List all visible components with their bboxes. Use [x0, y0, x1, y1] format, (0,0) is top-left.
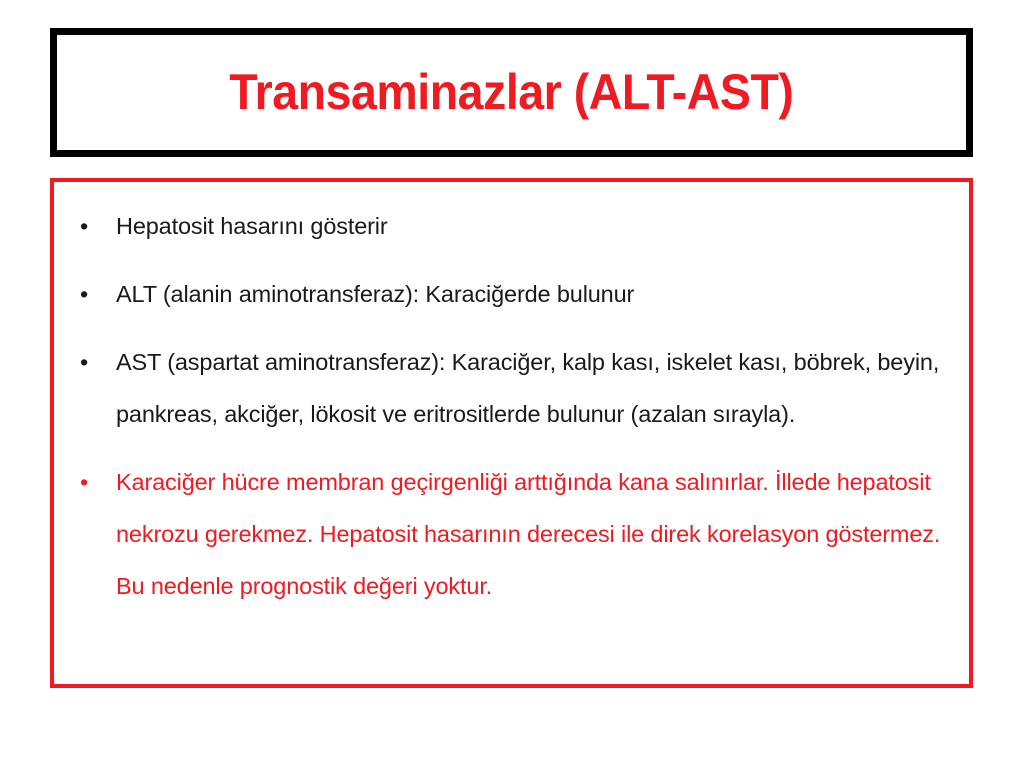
bullet-marker-icon: •	[80, 268, 88, 320]
list-item: • AST (aspartat aminotransferaz): Karaci…	[68, 336, 943, 440]
bullet-marker-icon: •	[80, 456, 88, 508]
list-item-text: AST (aspartat aminotransferaz): Karaciğe…	[116, 336, 943, 440]
bullet-list: • Hepatosit hasarını gösterir • ALT (ala…	[68, 200, 943, 612]
list-item-text: Hepatosit hasarını gösterir	[116, 200, 943, 252]
list-item: • Karaciğer hücre membran geçirgenliği a…	[68, 456, 943, 612]
bullet-marker-icon: •	[80, 336, 88, 388]
list-item-text: ALT (alanin aminotransferaz): Karaciğerd…	[116, 268, 943, 320]
list-item: • Hepatosit hasarını gösterir	[68, 200, 943, 252]
title-box: Transaminazlar (ALT-AST)	[50, 28, 973, 157]
list-item: • ALT (alanin aminotransferaz): Karaciğe…	[68, 268, 943, 320]
page-title: Transaminazlar (ALT-AST)	[229, 66, 793, 119]
slide-canvas: Transaminazlar (ALT-AST) • Hepatosit has…	[0, 0, 1024, 768]
content-box: • Hepatosit hasarını gösterir • ALT (ala…	[50, 178, 973, 688]
list-item-text: Karaciğer hücre membran geçirgenliği art…	[116, 456, 943, 612]
bullet-marker-icon: •	[80, 200, 88, 252]
